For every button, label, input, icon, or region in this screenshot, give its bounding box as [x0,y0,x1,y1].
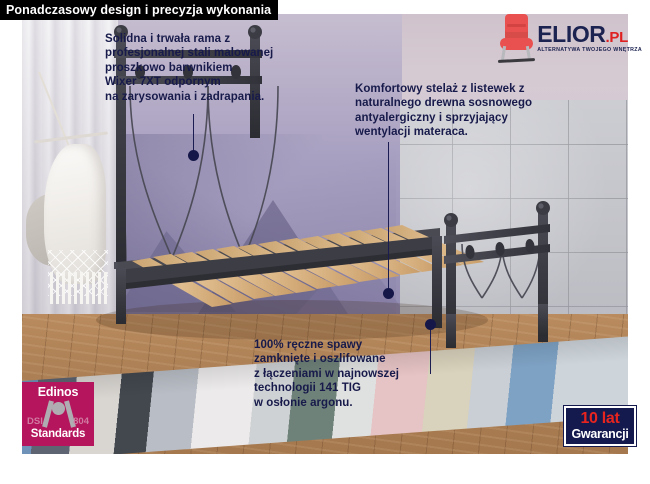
brand-domain: .PL [606,30,628,45]
pointer-dot-welds [425,319,436,330]
pointer-dot-frame [188,150,199,161]
brand-logo-text: ELIOR .PL ALTERNATYWA TWOJEGO WNĘTRZA [537,23,642,53]
edinos-certification-badge: Edinos DSI 804 Standards [22,382,94,446]
checkmark-v-icon: DSI 804 [22,399,94,429]
red-chair-icon [494,13,532,63]
callout-slats-text: Komfortowy stelaż z listewek z naturalne… [355,82,605,140]
brand-logo[interactable]: ELIOR .PL ALTERNATYWA TWOJEGO WNĘTRZA [494,12,642,64]
callout-welds-text: 100% ręczne spawy zamknięte i oszlifowan… [254,338,504,410]
brand-name: ELIOR [537,23,605,46]
pointer-dot-slats [383,288,394,299]
leader-line-frame [193,114,194,154]
callout-frame-text: Solidna i trwała rama z profesjonalnej s… [105,32,355,104]
brand-tagline: ALTERNATYWA TWOJEGO WNĘTRZA [537,47,642,53]
edinos-subtitle: Standards [31,428,85,440]
advert-image: Solidna i trwała rama z profesjonalnej s… [0,0,650,484]
edinos-code-right: 804 [73,416,89,427]
leader-line-slats [388,142,389,292]
edinos-title: Edinos [38,385,78,399]
bed-platform [118,225,484,307]
warranty-years: 10 lat [580,411,619,427]
warranty-label: Gwarancji [571,427,628,441]
headline-banner: Ponadczasowy design i precyzja wykonania [0,0,278,20]
warranty-badge: 10 lat Gwarancji [564,406,636,446]
edinos-code-left: DSI [27,416,43,427]
